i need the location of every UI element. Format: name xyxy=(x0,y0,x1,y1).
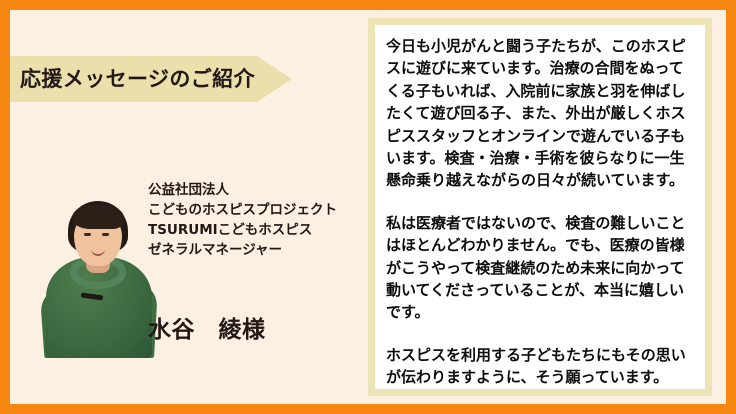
presenter-name: 水谷 綾様 xyxy=(148,310,266,344)
section-banner: 応援メッセージのご紹介 xyxy=(10,56,292,102)
message-paragraph: 私は医療者ではないので、検査の難しいことはほとんどわかりません。でも、医療の皆様… xyxy=(386,212,694,324)
section-banner-label: 応援メッセージのご紹介 xyxy=(20,56,255,102)
message-panel: 今日も小児がんと闘う子たちが、このホスピスに遊びに来ています。治療の合間をぬって… xyxy=(368,18,712,396)
slide-frame: 応援メッセージのご紹介 公益社団法人 こどものホスピスプロジェクト TSURUM… xyxy=(0,0,736,414)
presenter-photo xyxy=(40,195,158,358)
photo-eye-right xyxy=(102,233,109,236)
photo-eye-left xyxy=(84,233,91,236)
message-panel-body: 今日も小児がんと闘う子たちが、このホスピスに遊びに来ています。治療の合間をぬって… xyxy=(375,25,705,389)
affiliation-line: TSURUMIこどもホスピス xyxy=(148,220,368,240)
presenter-affiliation: 公益社団法人 こどものホスピスプロジェクト TSURUMIこどもホスピス ゼネラ… xyxy=(148,180,368,260)
message-paragraph: 今日も小児がんと闘う子たちが、このホスピスに遊びに来ています。治療の合間をぬって… xyxy=(386,35,694,192)
affiliation-line: こどものホスピスプロジェクト xyxy=(148,200,368,220)
photo-hair-fringe xyxy=(72,205,124,229)
affiliation-line: ゼネラルマネージャー xyxy=(148,240,368,260)
slide-canvas: 応援メッセージのご紹介 公益社団法人 こどものホスピスプロジェクト TSURUM… xyxy=(10,10,726,404)
message-paragraph: ホスピスを利用する子どもたちにもその思いが伝わりますように、そう願っています。 xyxy=(386,344,694,389)
affiliation-line: 公益社団法人 xyxy=(148,180,368,200)
